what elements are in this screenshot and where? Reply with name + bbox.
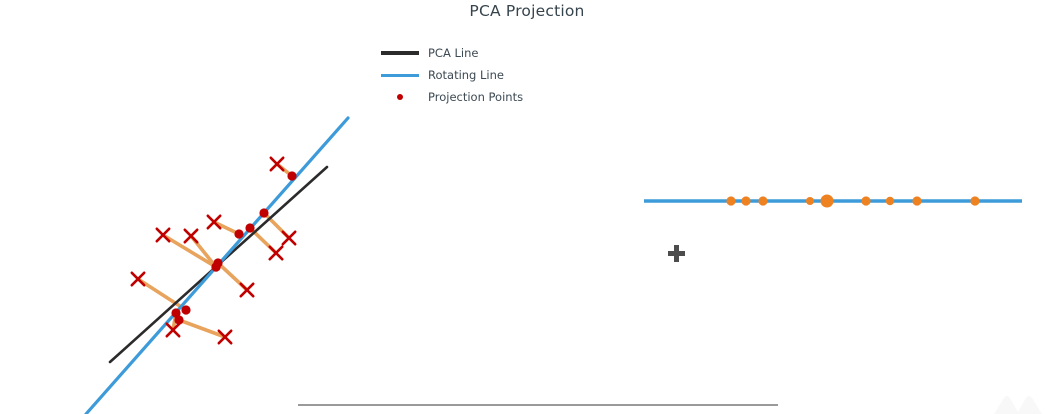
connector-segment (163, 235, 216, 267)
pca-projection-figure: PCA Projection PCA Line Rotating Line (0, 0, 1054, 414)
bottom-divider (298, 404, 778, 406)
connector-lines (138, 164, 292, 337)
projected-point-dot (861, 196, 870, 205)
projection-point-dot (259, 208, 268, 217)
projection-point-dot (287, 171, 296, 180)
projection-point-dot (245, 223, 254, 232)
line-swatch (381, 51, 419, 54)
scatter-panel-group (86, 118, 348, 414)
legend-label: PCA Line (428, 46, 478, 60)
data-point-markers (132, 158, 295, 343)
projected-point-dot (886, 197, 894, 205)
projected-point-dot (741, 196, 750, 205)
legend-label: Rotating Line (428, 68, 504, 82)
projected-point-dot (806, 197, 814, 205)
data-point-x-marker (132, 273, 144, 285)
rotating-line-swatch-icon (378, 74, 422, 77)
connector-segment (138, 279, 186, 310)
legend-label: Projection Points (428, 90, 523, 104)
projection-1d-panel-group (644, 195, 1022, 208)
data-point-x-marker (157, 229, 169, 241)
connector-segment (179, 320, 225, 337)
watermark-icon (986, 388, 1050, 414)
projection-point-swatch-icon (378, 94, 422, 100)
projected-point-dot (912, 196, 921, 205)
data-point-x-marker (241, 284, 253, 296)
data-point-x-marker (270, 247, 282, 259)
projected-point-dot (726, 196, 735, 205)
legend-item-projection-points: Projection Points (378, 86, 578, 108)
legend-item-pca-line: PCA Line (378, 42, 578, 64)
projection-point-dot (171, 308, 180, 317)
projection-point-dot (181, 305, 190, 314)
projection-point-dot (213, 258, 222, 267)
projection-point-dot (234, 229, 243, 238)
projected-point-dot (970, 196, 979, 205)
legend: PCA Line Rotating Line Projection Points (378, 42, 578, 108)
projected-point-dot (758, 196, 767, 205)
legend-item-rotating-line: Rotating Line (378, 64, 578, 86)
data-point-x-marker (271, 158, 283, 170)
data-point-x-marker (208, 216, 220, 228)
data-point-x-marker (283, 232, 295, 244)
dot-swatch (397, 94, 403, 100)
line-swatch (381, 74, 419, 77)
data-point-x-marker (185, 230, 197, 242)
projected-point-dot (821, 195, 834, 208)
pca-line-swatch-icon (378, 51, 422, 54)
